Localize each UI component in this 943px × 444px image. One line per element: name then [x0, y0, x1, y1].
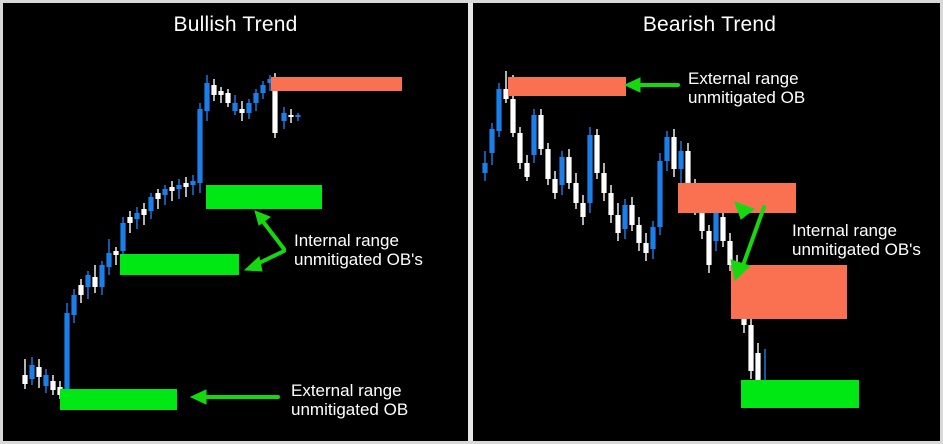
candle-body [608, 193, 613, 215]
candle-body [260, 85, 265, 93]
annotation-line: unmitigated OB's [294, 250, 423, 269]
candle-body [113, 251, 118, 255]
candle-body [524, 163, 529, 177]
candle-body [253, 93, 258, 103]
order-block-bullish-internal-lower [120, 254, 239, 275]
candle-body [636, 225, 641, 243]
candle-body [281, 113, 286, 121]
candle-body [489, 129, 494, 153]
candle-body [36, 367, 41, 377]
candle-body [169, 187, 174, 191]
candle-body [545, 149, 550, 179]
candle-body [29, 365, 34, 379]
candle-body [594, 135, 599, 173]
annotation-line: Internal range [294, 231, 423, 250]
candle-body [643, 243, 648, 253]
candle-body [225, 93, 230, 103]
order-block-bearish-internal-lower [731, 265, 847, 319]
candle-body [176, 185, 181, 189]
candle-body [622, 205, 627, 229]
candle-body [650, 227, 655, 249]
candle-body [141, 209, 146, 215]
candle-body [657, 161, 662, 227]
candle-body [580, 203, 585, 217]
candle-body [510, 99, 515, 133]
annotation-line: unmitigated OB [291, 400, 408, 419]
annotation-external-range-bullish: External range unmitigated OB [291, 381, 408, 419]
candle-body [92, 277, 97, 287]
order-block-bearish-external [508, 77, 626, 96]
candle-body [288, 115, 293, 117]
candle-body [211, 85, 216, 95]
candle-body [183, 183, 188, 187]
candle-body [232, 103, 237, 111]
candle-body [552, 179, 557, 193]
panel-bearish-trend: Bearish Trend External range unmitigated… [473, 3, 943, 444]
candle-body [155, 193, 160, 199]
order-block-bearish-internal-upper [678, 183, 796, 213]
candle-body [106, 253, 111, 267]
candle-body [43, 375, 48, 386]
candle-body [22, 375, 27, 384]
candle-body [517, 133, 522, 163]
candle-body [748, 325, 753, 371]
order-block-bullish-external [60, 389, 177, 410]
candle-body [482, 163, 487, 173]
candle-body [727, 241, 732, 265]
candle-body [601, 173, 606, 193]
panel-bullish-trend: Bullish Trend Internal range [3, 3, 468, 444]
candle-body [496, 89, 501, 131]
candle-body [197, 109, 202, 183]
candle-body [78, 285, 83, 295]
candle-body [127, 217, 132, 223]
annotation-internal-range-bearish: Internal range unmitigated OB's [792, 221, 921, 259]
candlestick-series-bullish [3, 3, 468, 444]
candle-body [50, 381, 55, 390]
candle-body [629, 205, 634, 225]
candle-body [685, 151, 690, 187]
candle-body [566, 157, 571, 183]
candle-body [671, 137, 676, 169]
candle-body [678, 151, 683, 169]
candle-body [587, 135, 592, 203]
annotation-line: Internal range [792, 221, 921, 240]
candle-body [246, 103, 251, 113]
annotation-external-range-bearish: External range unmitigated OB [688, 69, 805, 107]
candle-body [295, 115, 300, 117]
annotation-line: External range [688, 69, 805, 88]
candle-body [134, 213, 139, 219]
candle-body [64, 313, 69, 393]
candle-body [71, 295, 76, 315]
candle-body [162, 189, 167, 195]
candle-body [559, 157, 564, 185]
candle-body [239, 109, 244, 113]
candle-body [120, 223, 125, 251]
annotation-internal-range-bullish: Internal range unmitigated OB's [294, 231, 423, 269]
candle-body [148, 197, 153, 211]
annotation-line: unmitigated OB [688, 88, 805, 107]
order-block-bearish-external [271, 77, 402, 91]
candle-body [218, 91, 223, 95]
candle-body [713, 213, 718, 241]
candle-body [85, 275, 90, 287]
candle-body [531, 115, 536, 155]
candle-body [615, 215, 620, 233]
chart-screenshot: Bullish Trend Internal range [0, 0, 943, 444]
order-block-bullish-internal-upper [206, 185, 322, 209]
candle-body [720, 217, 725, 241]
candle-body [664, 137, 669, 161]
candle-body [190, 181, 195, 185]
annotation-line: External range [291, 381, 408, 400]
candle-body [538, 115, 543, 149]
candle-body [573, 183, 578, 203]
candle-body [706, 231, 711, 265]
annotation-line: unmitigated OB's [792, 240, 921, 259]
candle-body [204, 83, 209, 111]
order-block-bullish-bottom [741, 380, 859, 408]
candle-body [99, 265, 104, 287]
